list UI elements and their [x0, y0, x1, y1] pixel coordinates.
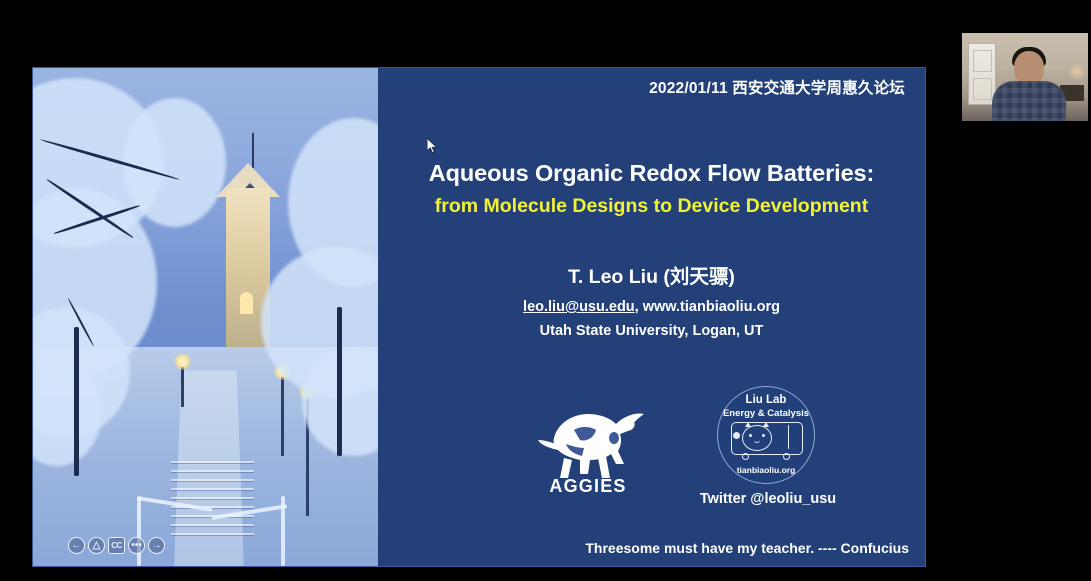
slide-player-controls[interactable]: ← △ CC ••• → [68, 536, 165, 555]
frost-tree-mid [123, 98, 227, 227]
mouse-cursor [427, 138, 438, 154]
next-slide-button[interactable]: → [148, 537, 165, 554]
presenter-torso [992, 81, 1066, 121]
battery-wheel-left [742, 453, 749, 460]
author-email[interactable]: leo.liu@usu.edu [523, 299, 635, 315]
battery-wheel-right [783, 453, 790, 460]
slide-contact-line: leo.liu@usu.edu, www.tianbiaoliu.org [378, 299, 925, 315]
room-light-glow [1068, 63, 1086, 81]
author-website[interactable]: , www.tianbiaoliu.org [635, 299, 780, 315]
presenter-webcam[interactable] [962, 33, 1088, 121]
tower-window [240, 292, 253, 314]
previous-slide-button[interactable]: ← [68, 537, 85, 554]
tree-trunk-left [74, 327, 79, 476]
room-door [968, 43, 996, 105]
liu-lab-title: Liu Lab [718, 394, 814, 406]
sun-icon [733, 432, 740, 439]
slide-title-main: Aqueous Organic Redox Flow Batteries: [378, 160, 925, 187]
more-options-button[interactable]: ••• [128, 537, 145, 554]
winter-campus-photo [33, 68, 378, 566]
snow-stairs [171, 461, 254, 536]
liu-lab-url: tianbiaoliu.org [718, 465, 814, 475]
presenter-face [1014, 51, 1044, 85]
closed-captions-button[interactable]: CC [108, 537, 125, 554]
lamp-post-far [281, 377, 284, 457]
cat-face-icon [742, 425, 772, 451]
confucius-quote: Threesome must have my teacher. ---- Con… [585, 540, 909, 556]
lamp-post-distant [181, 367, 184, 407]
screen-share-view: 2022/01/11 西安交通大学周惠久论坛 Aqueous Organic R… [0, 0, 1091, 581]
wind-turbine-icon [788, 425, 789, 449]
slide-title-subtitle: from Molecule Designs to Device Developm… [378, 195, 925, 218]
tree-trunk-right [337, 307, 342, 456]
twitter-handle: Twitter @leoliu_usu [673, 491, 863, 507]
slide-header-date: 2022/01/11 西安交通大学周惠久论坛 [649, 76, 905, 98]
annotate-pen-button[interactable]: △ [88, 537, 105, 554]
presentation-slide[interactable]: 2022/01/11 西安交通大学周惠久论坛 Aqueous Organic R… [33, 68, 925, 566]
aggies-wordmark: AGGIES [528, 476, 648, 497]
liu-lab-logo: Liu Lab Energy & Catalysis tianbiaoliu.o… [717, 386, 815, 484]
slide-affiliation: Utah State University, Logan, UT [378, 323, 925, 339]
slide-author-name: T. Leo Liu (刘天骠) [378, 260, 925, 289]
stair-rail-left [137, 496, 141, 566]
liu-lab-tagline: Energy & Catalysis [718, 408, 814, 419]
